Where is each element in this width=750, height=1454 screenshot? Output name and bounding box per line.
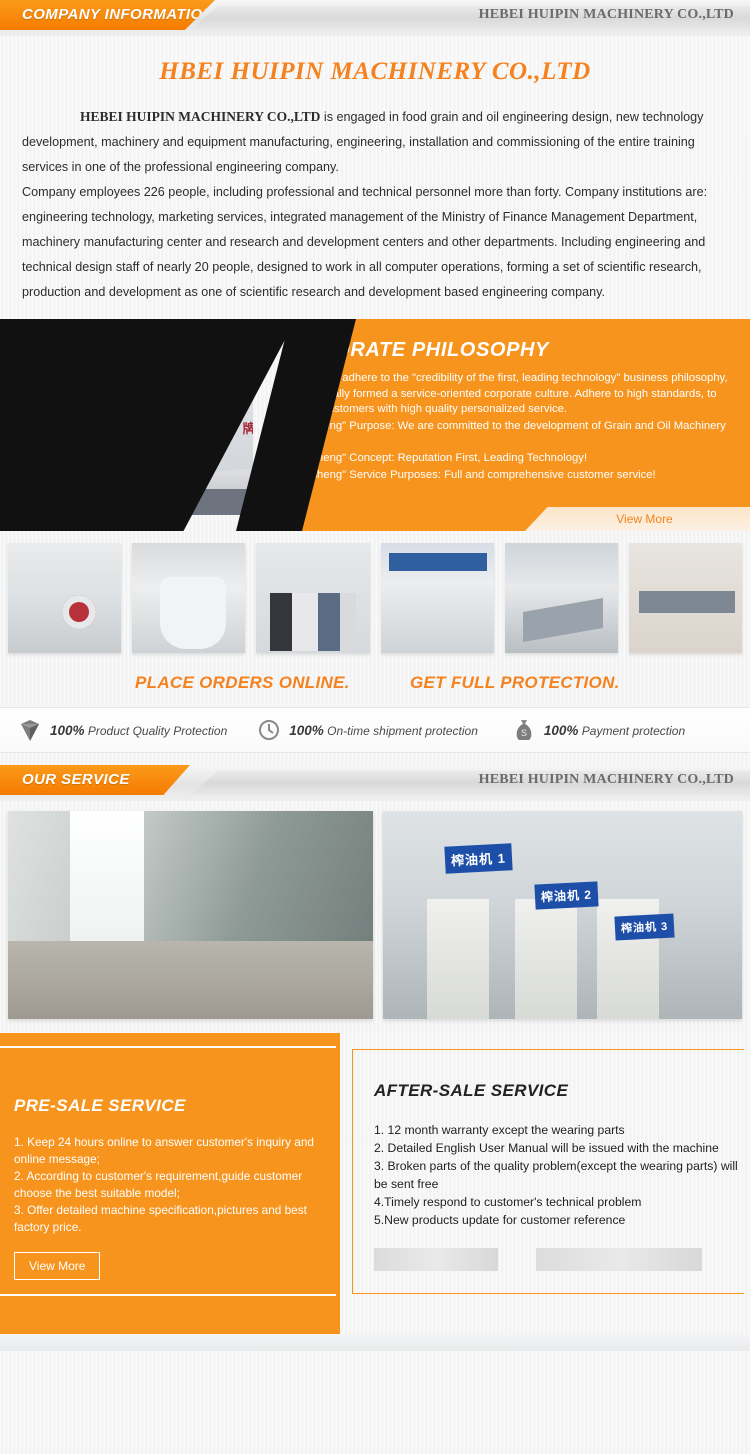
service-photo-production-line[interactable] bbox=[8, 811, 373, 1019]
pre-sale-item: 1. Keep 24 hours online to answer custom… bbox=[14, 1134, 316, 1168]
after-sale-item: 3. Broken parts of the quality problem(e… bbox=[374, 1157, 746, 1193]
list-item: "Yongsheng" Purpose: We are committed to… bbox=[270, 419, 742, 450]
thumbnail-exhibition-booth[interactable] bbox=[381, 543, 494, 653]
intro-paragraph-2: Company employees 226 people, including … bbox=[22, 180, 728, 305]
pre-sale-heading: PRE-SALE SERVICE bbox=[14, 1096, 316, 1116]
guarantee-percent: 100% bbox=[544, 723, 579, 738]
thumbnail-office-meeting[interactable] bbox=[629, 543, 742, 653]
press-machine bbox=[427, 899, 489, 1019]
placeholder-blocks bbox=[374, 1248, 702, 1271]
guarantee-percent: 100% bbox=[289, 723, 324, 738]
machine-label-2: 榨油机 2 bbox=[534, 881, 598, 909]
list-item: "Yongsheng" Service Purposes: Full and c… bbox=[270, 468, 742, 484]
guarantee-text: Payment protection bbox=[582, 724, 685, 738]
section-tag-company-information: COMPANY INFORMATION bbox=[0, 0, 215, 30]
after-sale-item: 5.New products update for customer refer… bbox=[374, 1211, 746, 1229]
after-sale-service-card: AFTER-SALE SERVICE 1. 12 month warranty … bbox=[374, 1081, 746, 1229]
placeholder-block bbox=[374, 1248, 498, 1271]
guarantee-ontime-shipment: 100% On-time shipment protection bbox=[227, 717, 478, 743]
service-photos-row: 榨油机 1 榨油机 2 榨油机 3 bbox=[0, 801, 750, 1019]
window bbox=[26, 389, 52, 403]
company-information-header: COMPANY INFORMATION HEBEI HUIPIN MACHINE… bbox=[0, 0, 750, 36]
guarantee-text: On-time shipment protection bbox=[327, 724, 478, 738]
philosophy-view-more-button[interactable]: View More bbox=[525, 507, 750, 531]
section-tag-our-service: OUR SERVICE bbox=[0, 765, 190, 795]
machine-label-1: 榨油机 1 bbox=[444, 843, 512, 873]
guarantee-text: Product Quality Protection bbox=[88, 724, 227, 738]
money-bag-icon: S bbox=[512, 717, 536, 743]
page-title: HBEI HUIPIN MACHINERY CO.,LTD bbox=[0, 58, 750, 86]
trade-assurance-bar: 100% Product Quality Protection 100% On-… bbox=[0, 707, 750, 753]
machine-label-3: 榨油机 3 bbox=[614, 913, 674, 940]
guarantee-product-quality: 100% Product Quality Protection bbox=[0, 717, 227, 743]
guarantee-payment: S 100% Payment protection bbox=[478, 717, 685, 743]
thumbnail-workshop-assembly[interactable] bbox=[505, 543, 618, 653]
bottom-bar bbox=[0, 1334, 750, 1351]
list-item: "Yongsheng" Concept: Reputation First, L… bbox=[270, 451, 742, 467]
get-full-protection-text: GET FULL PROTECTION. bbox=[410, 673, 620, 693]
diamond-icon bbox=[18, 717, 42, 743]
factory-building-photo: 创优质品牌 铸永胜牌 bbox=[8, 327, 253, 515]
pre-sale-service-card: PRE-SALE SERVICE 1. Keep 24 hours online… bbox=[0, 1046, 336, 1296]
thumbnail-oil-press-machine[interactable] bbox=[8, 543, 121, 653]
sale-service-section: PRE-SALE SERVICE 1. Keep 24 hours online… bbox=[0, 1033, 750, 1351]
header-company-name: HEBEI HUIPIN MACHINERY CO.,LTD bbox=[479, 7, 734, 23]
guarantee-label: 100% Payment protection bbox=[544, 723, 685, 738]
after-sale-heading: AFTER-SALE SERVICE bbox=[374, 1081, 746, 1101]
corporate-philosophy-band: 创优质品牌 铸永胜牌 CORPORATE PHILOSOPHY Companie… bbox=[0, 319, 750, 531]
pre-sale-view-more-button[interactable]: View More bbox=[14, 1252, 100, 1280]
orders-tagline-row: PLACE ORDERS ONLINE. GET FULL PROTECTION… bbox=[0, 659, 750, 707]
photo-thumbnail-strip bbox=[0, 531, 750, 659]
press-machine bbox=[515, 899, 577, 1019]
guarantee-label: 100% On-time shipment protection bbox=[289, 723, 478, 738]
after-sale-item: 2. Detailed English User Manual will be … bbox=[374, 1139, 746, 1157]
intro-paragraph-1: HEBEI HUIPIN MACHINERY CO.,LTD is engage… bbox=[22, 104, 728, 180]
service-header-company-name: HEBEI HUIPIN MACHINERY CO.,LTD bbox=[479, 772, 734, 788]
service-photo-oil-press-row[interactable]: 榨油机 1 榨油机 2 榨油机 3 bbox=[383, 811, 742, 1019]
placeholder-block bbox=[536, 1248, 702, 1271]
our-service-header: OUR SERVICE HEBEI HUIPIN MACHINERY CO.,L… bbox=[0, 765, 750, 801]
clock-icon bbox=[257, 717, 281, 743]
svg-text:S: S bbox=[521, 728, 527, 738]
pre-sale-item: 3. Offer detailed machine specification,… bbox=[14, 1202, 316, 1236]
window bbox=[58, 386, 84, 400]
window bbox=[132, 380, 162, 394]
after-sale-item: 4.Timely respond to customer's technical… bbox=[374, 1193, 746, 1211]
guarantee-label: 100% Product Quality Protection bbox=[50, 723, 227, 738]
place-orders-online-text: PLACE ORDERS ONLINE. bbox=[135, 673, 350, 693]
factory-ground bbox=[8, 489, 253, 515]
company-information-page: COMPANY INFORMATION HEBEI HUIPIN MACHINE… bbox=[0, 0, 750, 1454]
intro-text: HEBEI HUIPIN MACHINERY CO.,LTD is engage… bbox=[22, 104, 728, 305]
after-sale-item: 1. 12 month warranty except the wearing … bbox=[374, 1121, 746, 1139]
thumbnail-customers-visiting[interactable] bbox=[256, 543, 369, 653]
window bbox=[176, 377, 204, 391]
intro-company-lead: HEBEI HUIPIN MACHINERY CO.,LTD bbox=[22, 109, 320, 124]
window bbox=[96, 383, 126, 397]
philosophy-bullet-list: Companies adhere to the "credibility of … bbox=[270, 371, 742, 484]
guarantee-percent: 100% bbox=[50, 723, 85, 738]
thumbnail-loading-container[interactable] bbox=[132, 543, 245, 653]
pre-sale-item: 2. According to customer's requirement,g… bbox=[14, 1168, 316, 1202]
